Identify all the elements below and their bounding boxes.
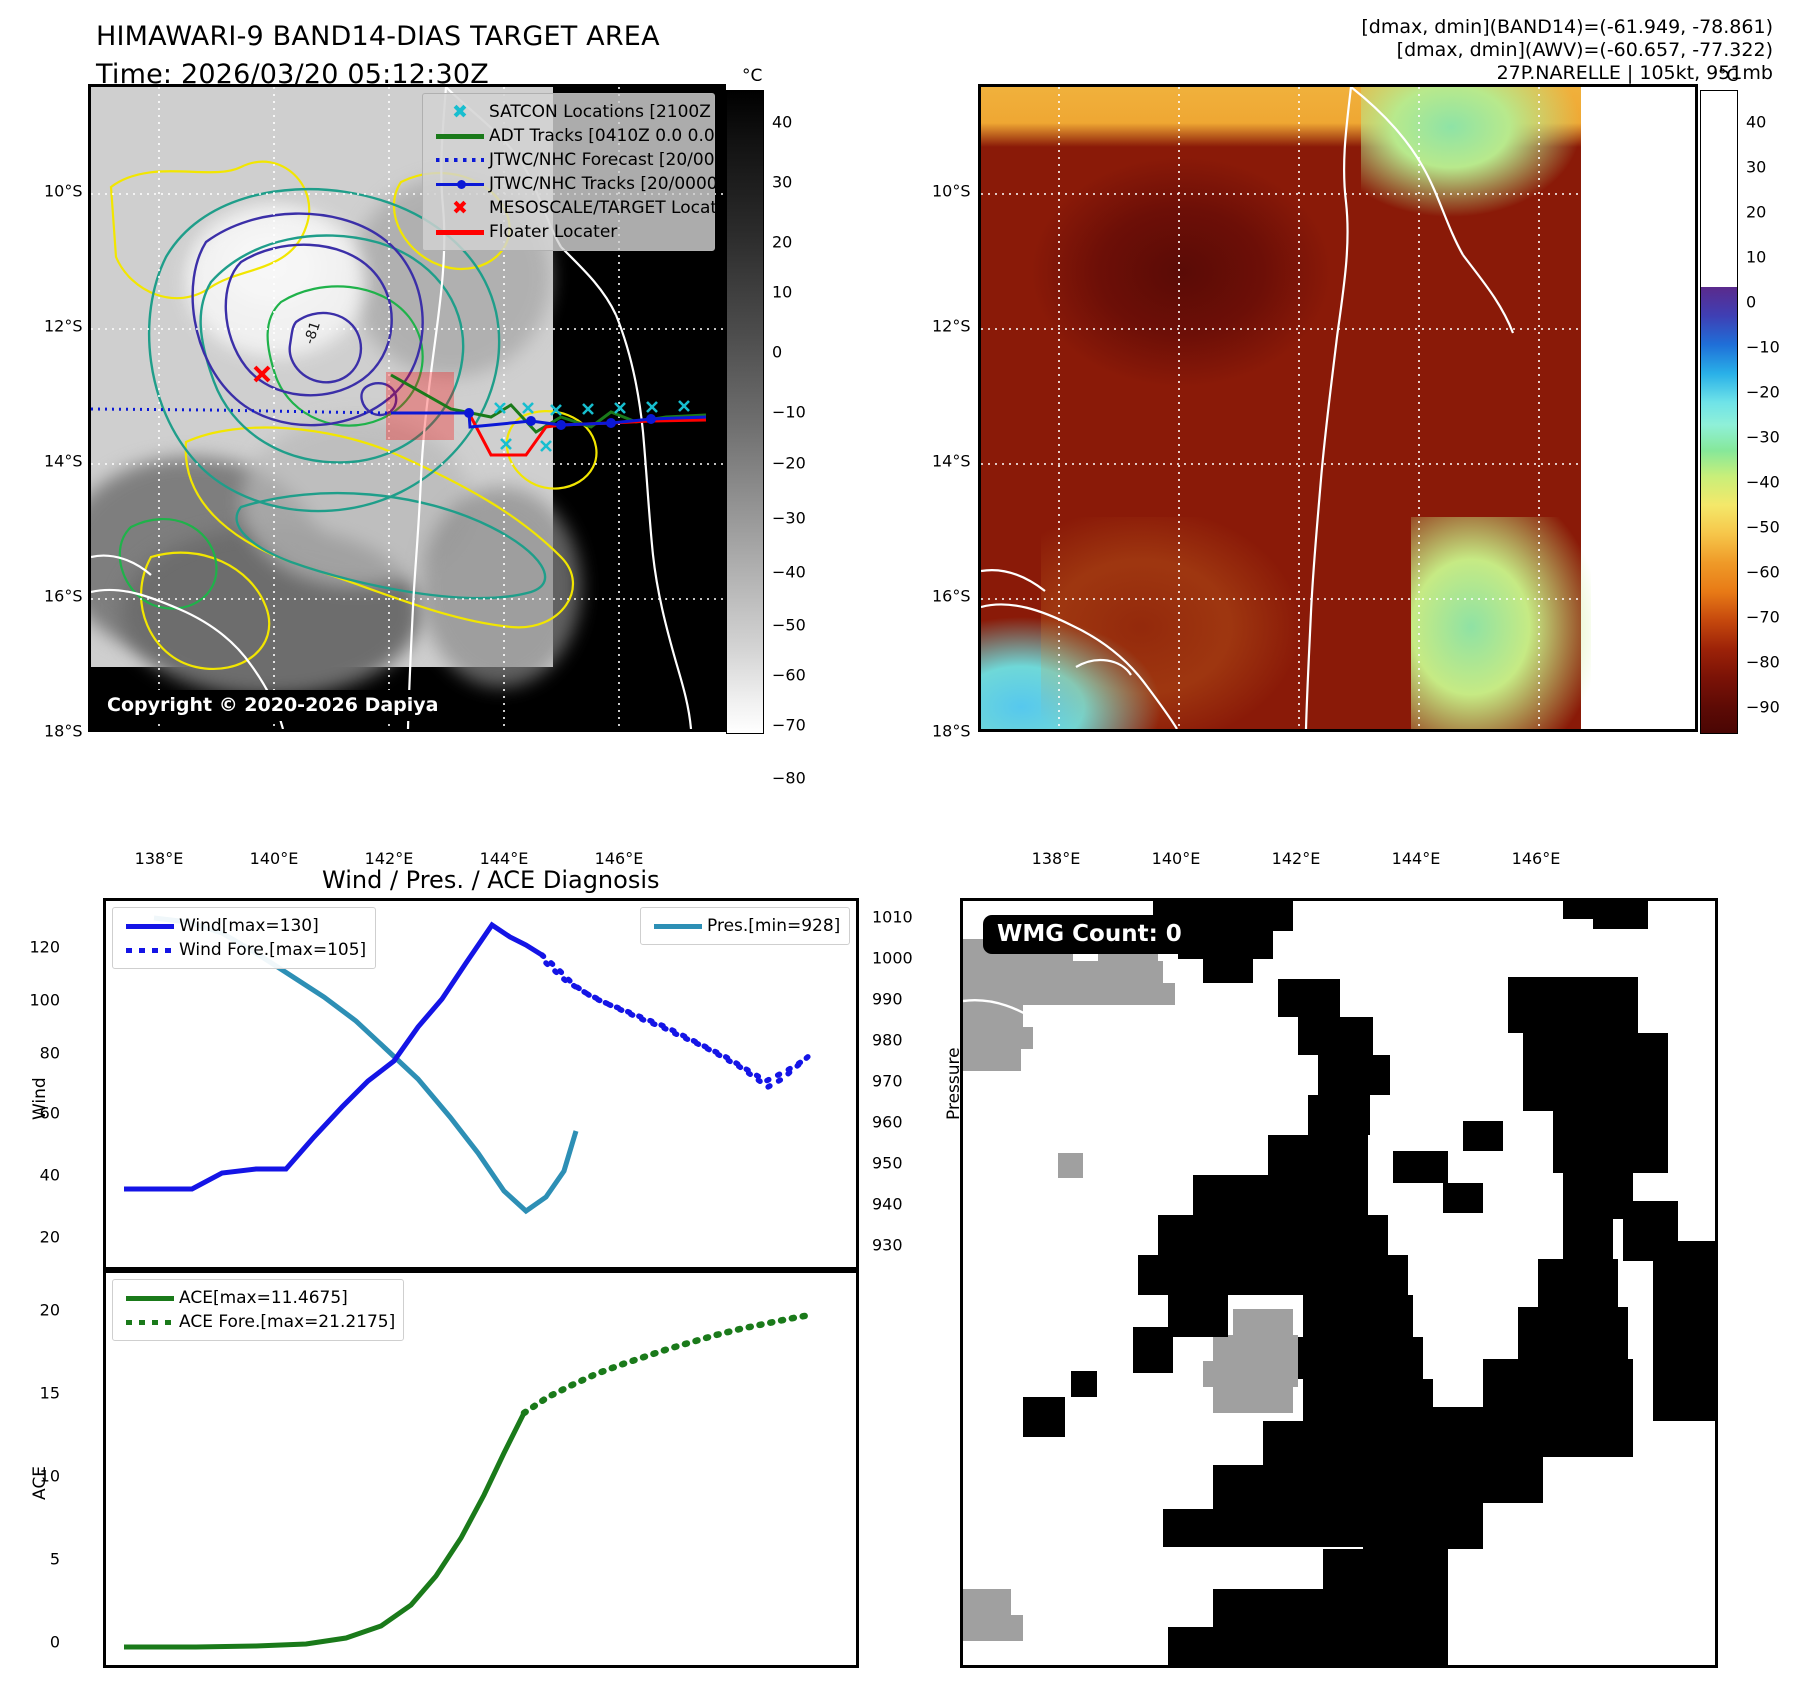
pressure-ytick: 930 [872,1236,903,1255]
ir-cbar-tick: 40 [772,113,792,132]
ir-cbar-tick: −60 [772,666,806,685]
storm-summary: 27P.NARELLE | 105kt, 951mb [1361,62,1773,85]
ir-cbar-tick: −10 [772,403,806,422]
pressure-ytick: 940 [872,1195,903,1214]
ace-chart[interactable]: ACE[max=11.4675] ACE Fore.[max=21.2175] [103,1270,859,1668]
legend-label: ADT Tracks [0410Z 0.0 0.0] [489,126,721,146]
ir-cbar-tick: 10 [772,283,792,302]
awv-overlays [981,87,1695,729]
ir-cbar-tick: −30 [772,509,806,528]
legend-label: JTWC/NHC Tracks [20/0000Z] [489,174,723,194]
ir-map-legend: ✖ SATCON Locations [2100Z 125 935] ADT T… [422,93,715,251]
ir-cbar-tick: 30 [772,173,792,192]
ir-cbar-tick: −80 [772,769,806,788]
wind-ytick: 20 [40,1228,60,1247]
copyright-notice: Copyright © 2020-2026 Dapiya [97,690,448,721]
ir-colorbar[interactable] [726,90,764,734]
dmax-dmin-awv: [dmax, dmin](AWV)=(-60.657, -77.322) [1361,39,1773,62]
wind-axis-label: Wind [30,1077,50,1120]
legend-label: MESOSCALE/TARGET Location [489,198,723,218]
ir-lon-tick: 140°E [250,849,299,868]
mesoscale-target-marker [255,367,269,381]
ace-ytick: 5 [50,1550,60,1569]
jtwc-track-line-icon [431,183,489,186]
ace-line-icon [121,1296,179,1301]
satcon-x-icon: ✖ [431,103,489,122]
ir-cbar-tick: −50 [772,616,806,635]
awv-cbar-tick: −10 [1746,338,1780,357]
awv-cbar-tick: −20 [1746,383,1780,402]
awv-lat-tick: 18°S [932,722,971,741]
ace-forecast-dotted-icon [121,1320,179,1325]
page-title: HIMAWARI-9 BAND14-DIAS TARGET AREA Time:… [96,18,660,94]
awv-lat-tick: 10°S [932,182,971,201]
pressure-line-icon [649,924,707,929]
pressure-ytick: 990 [872,990,903,1009]
ace-ytick: 0 [50,1633,60,1652]
jtwc-forecast-dotted-icon [431,158,489,162]
wind-ytick: 80 [40,1044,60,1063]
awv-cbar-tick: 20 [1746,203,1766,222]
awv-cbar-tick: 10 [1746,248,1766,267]
wind-ytick: 40 [40,1166,60,1185]
awv-lon-tick: 138°E [1032,849,1081,868]
ir-target-area-panel[interactable]: -81 [88,84,726,732]
awv-cbar-tick: −90 [1746,698,1780,717]
awv-cbar-tick: 40 [1746,113,1766,132]
pressure-ytick: 960 [872,1113,903,1132]
wind-line-icon [121,924,179,929]
awv-cbar-tick: 0 [1746,293,1756,312]
legend-label: ACE Fore.[max=21.2175] [179,1312,395,1332]
ace-legend: ACE[max=11.4675] ACE Fore.[max=21.2175] [112,1279,404,1341]
awv-cbar-tick: −50 [1746,518,1780,537]
awv-cbar-tick: −60 [1746,563,1780,582]
pressure-legend: Pres.[min=928] [640,907,850,945]
header-info-block: [dmax, dmin](BAND14)=(-61.949, -78.861) … [1361,16,1773,85]
awv-cbar-tick: −40 [1746,473,1780,492]
jtwc-forecast-track [91,409,391,413]
ace-axis-label: ACE [30,1466,50,1500]
wind-forecast-dotted-icon [121,948,179,953]
wmg-mask [963,901,1715,1665]
ir-cbar-tick: −40 [772,563,806,582]
ir-cbar-tick: 20 [772,233,792,252]
contour-label: -81 [302,320,324,347]
awv-cbar-tick: −80 [1746,653,1780,672]
awv-lat-tick: 12°S [932,317,971,336]
pressure-ytick: 970 [872,1072,903,1091]
wind-pressure-chart[interactable]: Wind[max=130] Wind Fore.[max=105] Pres.[… [103,898,859,1270]
pressure-ytick: 980 [872,1031,903,1050]
awv-lat-tick: 16°S [932,587,971,606]
awv-colorbar[interactable] [1700,90,1738,734]
pressure-ytick: 1000 [872,949,913,968]
awv-lon-tick: 140°E [1152,849,1201,868]
legend-label: JTWC/NHC Forecast [20/0000Z] [489,150,723,170]
wind-ytick: 100 [29,991,60,1010]
ir-lat-tick: 12°S [44,317,83,336]
legend-item: JTWC/NHC Forecast [20/0000Z] [431,148,704,172]
awv-cbar-tick: −30 [1746,428,1780,447]
legend-item: ACE Fore.[max=21.2175] [121,1310,393,1334]
ir-lat-tick: 10°S [44,182,83,201]
wmg-count-badge: WMG Count: 0 [983,915,1196,954]
adt-line-icon [431,134,489,139]
ir-colorbar-unit: °C [742,66,762,86]
ace-ytick: 20 [40,1301,60,1320]
legend-label: Floater Locater [489,222,617,242]
awv-lon-tick: 146°E [1512,849,1561,868]
awv-colorbar-unit: °C [1718,66,1738,86]
mesoscale-x-icon: ✖ [431,199,489,218]
ir-cbar-tick: −20 [772,454,806,473]
ir-lat-tick: 16°S [44,587,83,606]
legend-item: Wind[max=130] [121,914,365,938]
wind-legend: Wind[max=130] Wind Fore.[max=105] [112,907,376,969]
legend-label: Pres.[min=928] [707,916,840,936]
wmg-panel[interactable]: WMG Count: 0 [960,898,1718,1668]
floater-line-icon [431,230,489,235]
ir-lon-tick: 138°E [135,849,184,868]
legend-item: ✖ SATCON Locations [2100Z 125 935] [431,100,704,124]
awv-cbar-tick: −70 [1746,608,1780,627]
awv-panel[interactable] [978,84,1698,732]
title-satellite-band: HIMAWARI-9 BAND14-DIAS TARGET AREA [96,18,660,56]
wind-ytick: 120 [29,938,60,957]
legend-item: ✖ MESOSCALE/TARGET Location [431,196,704,220]
awv-cbar-tick: 30 [1746,158,1766,177]
pressure-ytick: 950 [872,1154,903,1173]
ace-ytick: 15 [40,1384,60,1403]
pressure-ytick: 1010 [872,908,913,927]
ir-lat-tick: 14°S [44,452,83,471]
legend-item: Floater Locater [431,220,704,244]
awv-lat-tick: 14°S [932,452,971,471]
ir-lat-tick: 18°S [44,722,83,741]
legend-item: Pres.[min=928] [649,914,839,938]
diagnosis-title: Wind / Pres. / ACE Diagnosis [322,866,660,894]
awv-lon-tick: 142°E [1272,849,1321,868]
legend-label: Wind Fore.[max=105] [179,940,366,960]
ir-cbar-tick: 0 [772,343,782,362]
legend-item: ADT Tracks [0410Z 0.0 0.0] [431,124,704,148]
legend-label: SATCON Locations [2100Z 125 935] [489,102,723,122]
dmax-dmin-band14: [dmax, dmin](BAND14)=(-61.949, -78.861) [1361,16,1773,39]
legend-item: Wind Fore.[max=105] [121,938,365,962]
awv-lon-tick: 144°E [1392,849,1441,868]
legend-label: ACE[max=11.4675] [179,1288,348,1308]
legend-label: Wind[max=130] [179,916,319,936]
legend-item: JTWC/NHC Tracks [20/0000Z] [431,172,704,196]
legend-item: ACE[max=11.4675] [121,1286,393,1310]
ir-cbar-tick: −70 [772,716,806,735]
